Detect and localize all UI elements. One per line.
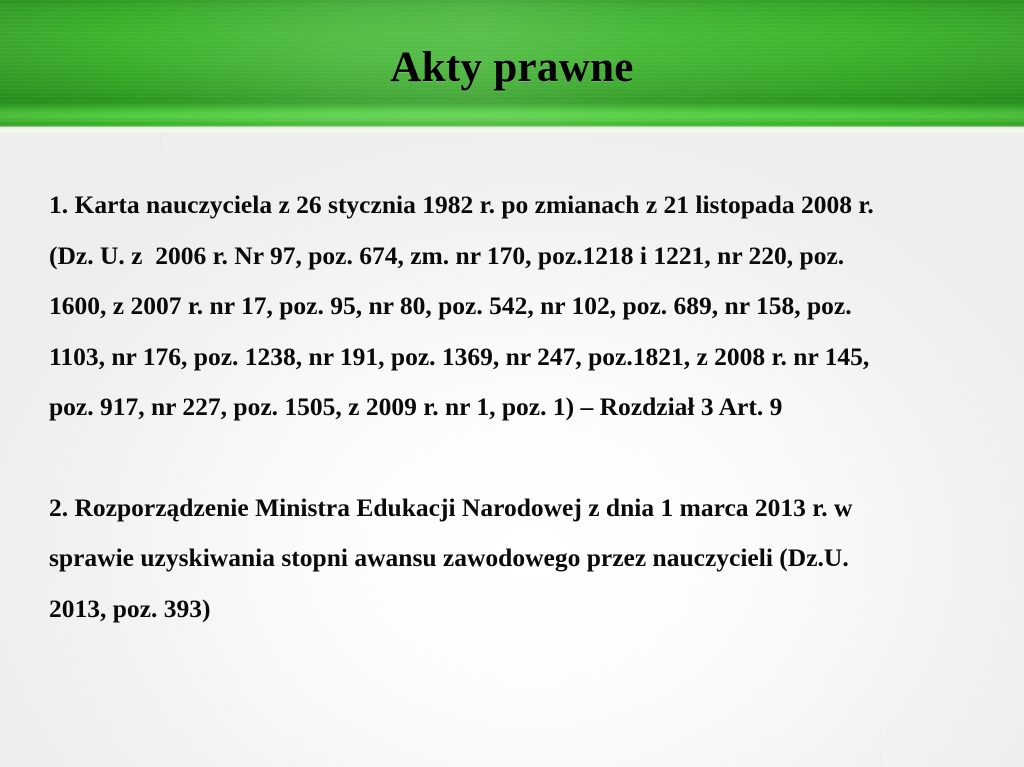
text-line: 2013, poz. 393) bbox=[49, 584, 985, 635]
presentation-slide: Akty prawne 1. Karta nauczyciela z 26 st… bbox=[0, 0, 1024, 767]
text-line: (Dz. U. z 2006 r. Nr 97, poz. 674, zm. n… bbox=[49, 231, 985, 282]
text-line: poz. 917, nr 227, poz. 1505, z 2009 r. n… bbox=[49, 382, 985, 433]
paragraph-spacer bbox=[49, 433, 985, 483]
text-line: 1103, nr 176, poz. 1238, nr 191, poz. 13… bbox=[49, 332, 985, 383]
paragraph-2: 2. Rozporządzenie Ministra Edukacji Naro… bbox=[49, 483, 985, 635]
text-line: 2. Rozporządzenie Ministra Edukacji Naro… bbox=[49, 483, 985, 534]
text-line: 1600, z 2007 r. nr 17, poz. 95, nr 80, p… bbox=[49, 281, 985, 332]
header-underline bbox=[0, 127, 1024, 132]
slide-title: Akty prawne bbox=[0, 44, 1024, 92]
paragraph-1: 1. Karta nauczyciela z 26 stycznia 1982 … bbox=[49, 180, 985, 433]
text-line: sprawie uzyskiwania stopni awansu zawodo… bbox=[49, 533, 985, 584]
slide-content: 1. Karta nauczyciela z 26 stycznia 1982 … bbox=[49, 180, 985, 634]
text-line: 1. Karta nauczyciela z 26 stycznia 1982 … bbox=[49, 180, 985, 231]
